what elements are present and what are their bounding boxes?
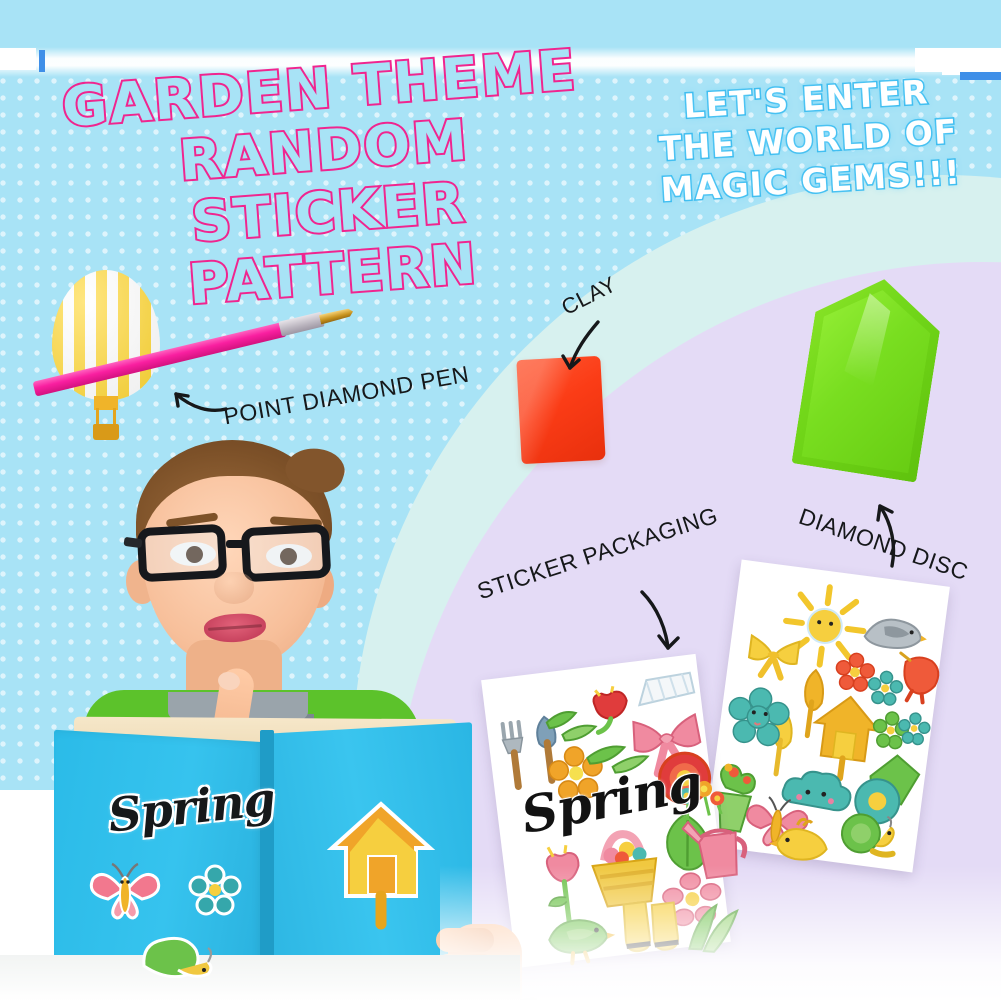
pen-callout-arrow xyxy=(166,382,230,418)
boy-reading-book-photo: Spring xyxy=(18,418,488,1001)
sticker-packaging-callout-arrow xyxy=(634,586,690,662)
decor-bar-right xyxy=(960,72,1001,80)
page-title-right: LET'S ENTER THE WORLD OF MAGIC GEMS!!! xyxy=(645,69,972,211)
glasses-lens-left xyxy=(137,524,228,583)
decor-chip-left xyxy=(0,48,36,70)
book-sticker-pink-butterfly xyxy=(86,862,164,922)
book-sticker-teal-flower xyxy=(190,866,240,914)
sticker-red-bird xyxy=(893,647,947,705)
table-surface xyxy=(0,955,520,1001)
glasses-bridge xyxy=(226,540,246,548)
pen-metal-tip xyxy=(319,307,354,325)
glasses-temple xyxy=(123,537,142,548)
book-sticker-green-caterpillar xyxy=(138,930,224,990)
pen-ferrule xyxy=(278,312,324,337)
background-bottom-fade-right xyxy=(440,700,1001,1001)
boy-nose xyxy=(214,572,254,604)
clay-callout-arrow xyxy=(552,318,608,380)
decor-bar-left xyxy=(39,50,45,72)
product-marketing-image: GARDEN THEME RANDOM STICKER PATTERN LET'… xyxy=(0,0,1001,1001)
glasses-lens-right xyxy=(241,524,332,583)
book-sticker-yellow-birdhouse xyxy=(326,800,436,928)
